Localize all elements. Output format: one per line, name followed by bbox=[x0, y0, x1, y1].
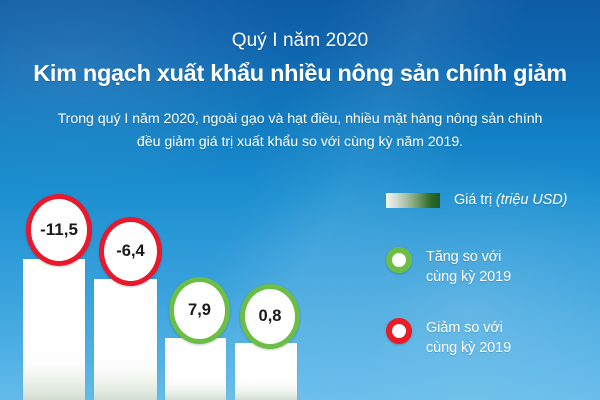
value-gradient-swatch-icon bbox=[386, 193, 440, 208]
bar-1 bbox=[23, 259, 85, 400]
legend-label-value: Giá trị (triệu USD) bbox=[454, 190, 567, 210]
legend-decrease-line-1: Giảm so với bbox=[426, 318, 511, 338]
legend-decrease-line-2: cùng kỳ 2019 bbox=[426, 338, 511, 358]
legend-item-increase: Tăng so với cùng kỳ 2019 bbox=[386, 247, 511, 287]
badge-bar-1: -11,5 bbox=[26, 194, 92, 266]
legend-item-value: Giá trị (triệu USD) bbox=[386, 190, 567, 210]
infographic-canvas: Quý I năm 2020 Kim ngạch xuất khẩu nhiều… bbox=[0, 0, 600, 400]
legend-value-unit: (triệu USD) bbox=[496, 192, 567, 208]
legend-label-increase: Tăng so với cùng kỳ 2019 bbox=[426, 247, 511, 287]
bar-2 bbox=[94, 279, 157, 400]
legend-item-decrease: Giảm so với cùng kỳ 2019 bbox=[386, 318, 511, 358]
legend-increase-line-2: cùng kỳ 2019 bbox=[426, 267, 511, 287]
legend-value-main: Giá trị bbox=[454, 192, 496, 208]
bar-4 bbox=[235, 343, 297, 400]
increase-circle-icon bbox=[386, 247, 412, 273]
bar-chart: -11,5 -6,4 7,9 0,8 bbox=[0, 0, 360, 400]
badge-bar-4: 0,8 bbox=[240, 284, 300, 349]
decrease-circle-icon bbox=[386, 318, 412, 344]
legend-increase-line-1: Tăng so với bbox=[426, 247, 511, 267]
badge-bar-2: -6,4 bbox=[99, 217, 162, 286]
legend-label-decrease: Giảm so với cùng kỳ 2019 bbox=[426, 318, 511, 358]
badge-bar-3: 7,9 bbox=[169, 277, 230, 344]
bar-3 bbox=[165, 338, 226, 400]
